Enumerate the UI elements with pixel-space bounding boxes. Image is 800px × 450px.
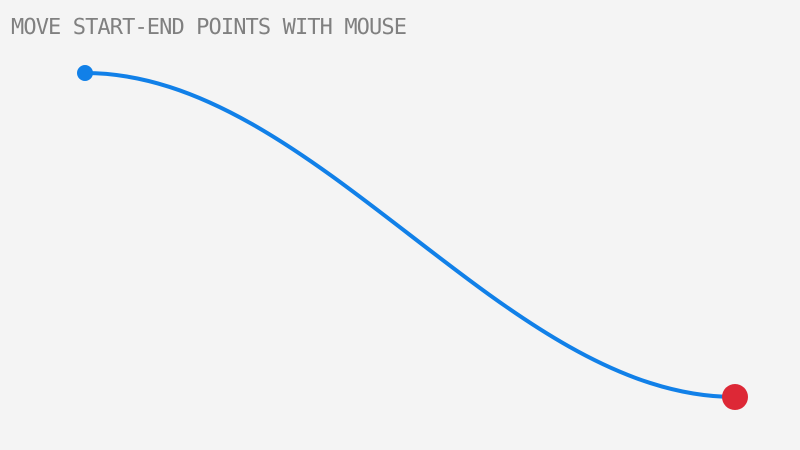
start-point-handle[interactable] (77, 65, 93, 81)
curve-stage[interactable] (0, 0, 800, 450)
end-point-handle[interactable] (722, 384, 748, 410)
bezier-demo-canvas[interactable]: MOVE START-END POINTS WITH MOUSE (0, 0, 800, 450)
bezier-curve-path (85, 73, 735, 397)
